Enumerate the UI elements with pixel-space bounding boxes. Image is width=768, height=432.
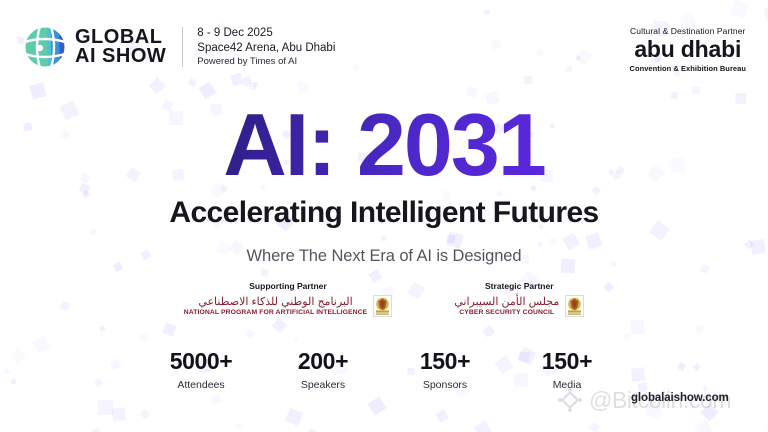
decorative-square [236,423,243,430]
brand-lockup: GLOBAL AI SHOW 8 - 9 Dec 2025 Space42 Ar… [24,26,335,68]
stat-media: 150+ Media [506,350,628,391]
decorative-square [590,421,601,432]
cultural-partner-subtitle: Convention & Exhibition Bureau [629,64,746,73]
partner-logos-row: Supporting Partner البرنامج الوطني للذكا… [0,281,768,317]
site-url: globalaishow.com [631,392,729,404]
decorative-square [700,403,719,422]
partner-kicker: Supporting Partner [184,281,393,291]
stat-sponsors: 150+ Sponsors [384,350,506,391]
partner-name-arabic: مجلس الأمن السيبراني [454,296,559,308]
stat-label: Attendees [140,379,262,391]
decorative-square [91,428,102,432]
stat-value: 150+ [384,350,506,373]
event-venue: Space42 Arena, Abu Dhabi [197,41,335,56]
event-powered-by: Powered by Times of AI [197,56,335,68]
event-date: 8 - 9 Dec 2025 [197,26,335,41]
stat-label: Sponsors [384,379,506,391]
stat-value: 150+ [506,350,628,373]
stat-label: Media [506,379,628,391]
stat-attendees: 5000+ Attendees [140,350,262,391]
decorative-square [261,268,269,276]
decorative-square [483,325,496,338]
hero-tagline: Where The Next Era of AI is Designed [0,247,768,266]
decorative-square [303,428,320,432]
partner-kicker: Strategic Partner [454,281,584,291]
hero-section: AI: 2031 Accelerating Intelligent Future… [0,100,768,266]
decorative-square [98,400,113,415]
stats-row: 5000+ Attendees 200+ Speakers 150+ Spons… [0,350,768,391]
uae-falcon-emblem-icon [565,295,584,317]
decorative-square [99,325,106,332]
decorative-square [211,394,221,404]
decorative-square [139,333,149,343]
partner-strategic: Strategic Partner مجلس الأمن السيبراني C… [454,281,584,317]
decorative-square [271,318,286,333]
decorative-square [623,333,630,340]
presentation-slide: GLOBAL AI SHOW 8 - 9 Dec 2025 Space42 Ar… [0,0,768,432]
slide-header: GLOBAL AI SHOW 8 - 9 Dec 2025 Space42 Ar… [0,0,768,92]
brand-name-line2: AI SHOW [75,47,166,66]
partner-name-arabic: البرنامج الوطني للذكاء الاصطناعي [184,296,368,308]
decorative-square [163,322,177,336]
header-divider [182,27,183,67]
cultural-partner-name: abu dhabi [629,38,746,61]
decorative-square [474,420,492,432]
decorative-square [139,409,150,420]
decorative-square [246,328,255,337]
cultural-partner-lockup: Cultural & Destination Partner abu dhabi… [629,26,746,73]
hero-subtitle: Accelerating Intelligent Futures [0,196,768,230]
stat-speakers: 200+ Speakers [262,350,384,391]
event-info: 8 - 9 Dec 2025 Space42 Arena, Abu Dhabi … [197,26,335,68]
cultural-partner-kicker: Cultural & Destination Partner [629,26,746,36]
partner-supporting: Supporting Partner البرنامج الوطني للذكا… [184,281,393,317]
decorative-square [435,409,449,423]
stat-label: Speakers [262,379,384,391]
uae-falcon-emblem-icon [373,295,392,317]
decorative-square [629,319,644,334]
decorative-square [670,92,678,100]
decorative-square [293,337,299,343]
globe-icon [24,26,66,68]
stat-value: 200+ [262,350,384,373]
decorative-square [285,407,304,426]
page-title: AI: 2031 [0,100,768,190]
partner-name-latin: NATIONAL PROGRAM FOR ARTIFICIAL INTELLIG… [184,309,368,317]
brand-wordmark: GLOBAL AI SHOW [75,28,166,67]
partner-name-latin: CYBER SECURITY COUNCIL [454,309,559,317]
decorative-square [695,325,704,334]
decorative-square [694,419,713,432]
decorative-square [368,396,387,415]
decorative-square [111,407,126,422]
stat-value: 5000+ [140,350,262,373]
